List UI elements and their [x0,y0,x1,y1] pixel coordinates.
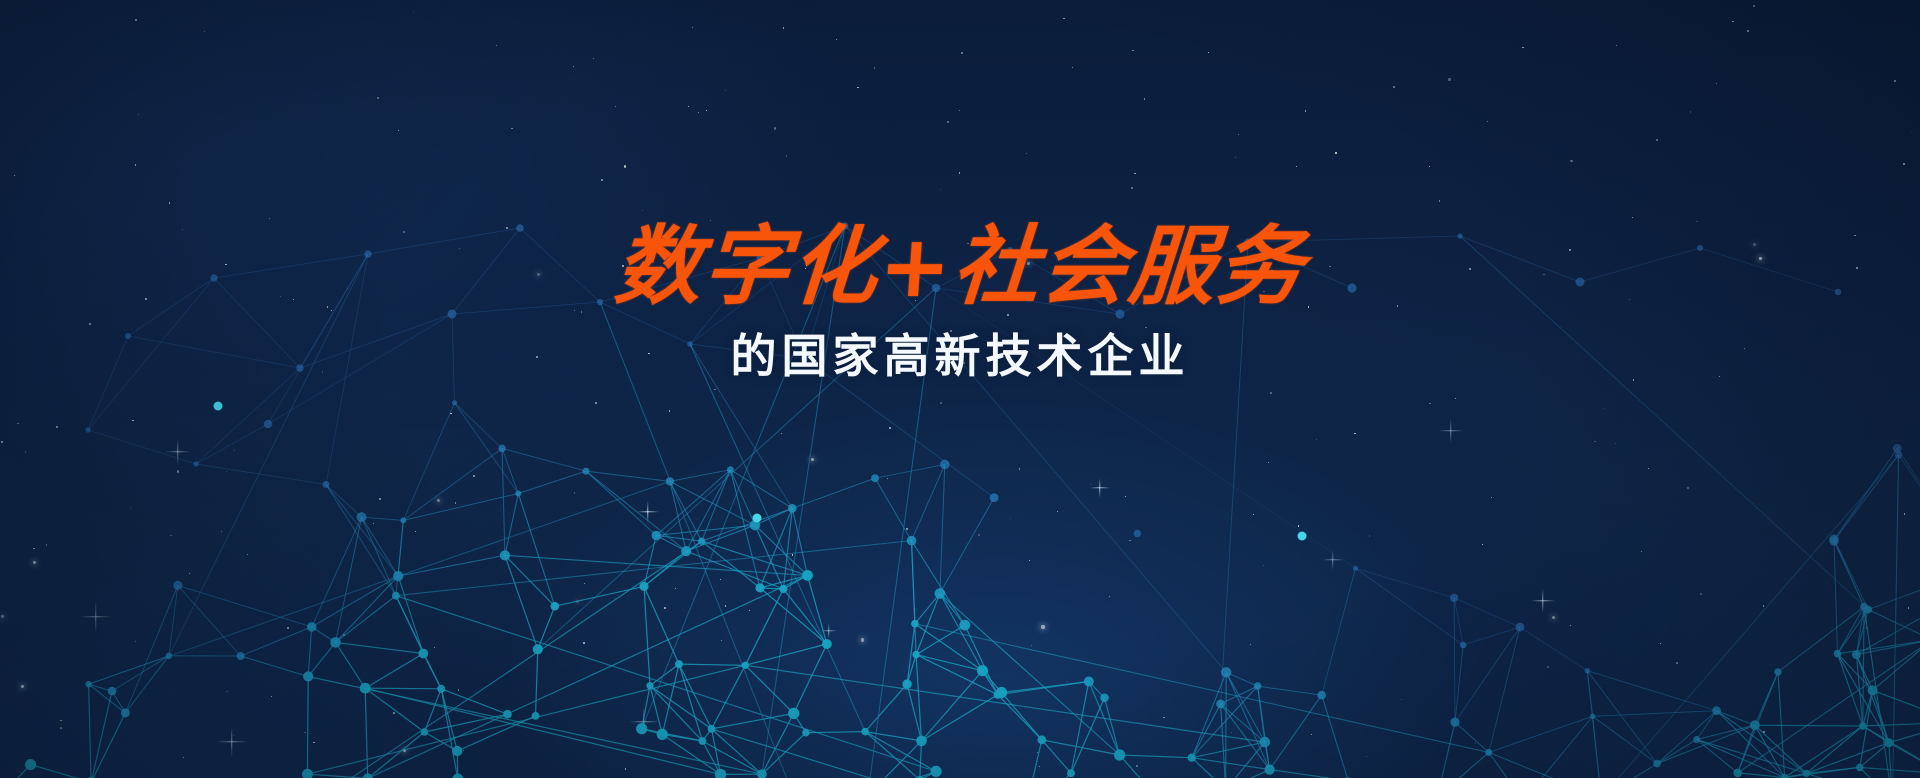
page-title: 数字化+社会服务 [0,222,1920,313]
background-gradient [0,0,1920,778]
headline-block: 数字化+社会服务 的国家高新技术企业 [0,222,1920,384]
hero-banner: 数字化+社会服务 的国家高新技术企业 [0,0,1920,778]
page-subtitle: 的国家高新技术企业 [0,329,1920,384]
